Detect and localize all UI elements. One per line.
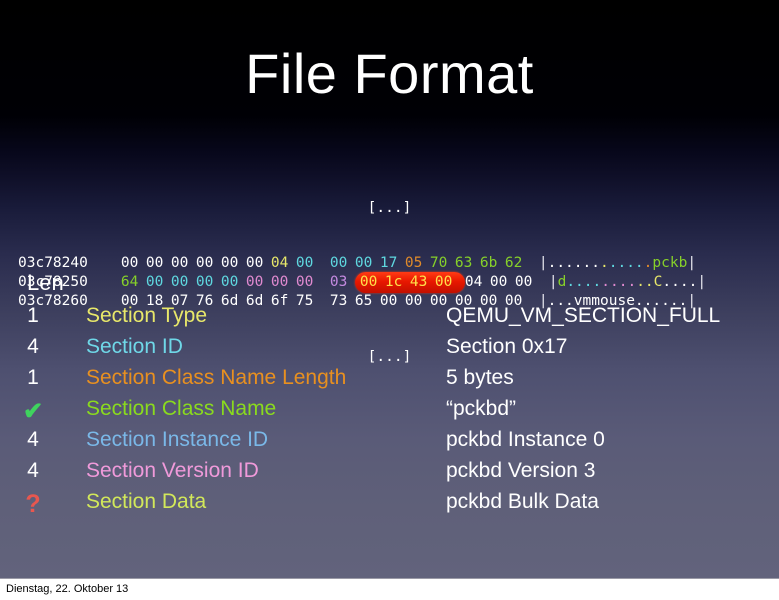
footer-bar: Dienstag, 22. Oktober 13 [0, 578, 779, 600]
field-name: Section Data [86, 490, 206, 514]
field-length: 1 [0, 304, 66, 328]
table-body: 1Section TypeQEMU_VM_SECTION_FULL4Sectio… [0, 304, 779, 521]
field-length: 4 [0, 459, 66, 483]
table-row: 4Section IDSection 0x17 [0, 335, 779, 366]
ascii-char: . [548, 255, 557, 271]
field-name: Section Class Name Length [86, 366, 346, 390]
hex-ellipsis-top: [...] [0, 198, 779, 218]
ascii-char: . [600, 255, 609, 271]
hex-address: 03c78240 [18, 255, 88, 271]
ascii-char: . [583, 255, 592, 271]
field-name: Section Version ID [86, 459, 259, 483]
ascii-delimiter: | [687, 255, 696, 271]
field-table: Len 1Section TypeQEMU_VM_SECTION_FULL4Se… [0, 270, 779, 521]
field-value: Section 0x17 [446, 335, 567, 359]
ascii-char: . [574, 255, 583, 271]
field-value: QEMU_VM_SECTION_FULL [446, 304, 720, 328]
table-row: ✔Section Class Name“pckbd” [0, 397, 779, 428]
field-value: pckbd Instance 0 [446, 428, 605, 452]
table-row: 4Section Version IDpckbd Version 3 [0, 459, 779, 490]
table-row: 4Section Instance IDpckbd Instance 0 [0, 428, 779, 459]
field-name: Section Class Name [86, 397, 276, 421]
checkmark-icon: ✔ [0, 397, 66, 426]
ascii-char: k [670, 255, 679, 271]
table-row: 1Section TypeQEMU_VM_SECTION_FULL [0, 304, 779, 335]
footer-date: Dienstag, 22. Oktober 13 [6, 583, 128, 595]
page-title: File Format [0, 46, 779, 102]
ascii-column: ............pckb [548, 255, 688, 271]
field-name: Section Type [86, 304, 207, 328]
table-row: 1Section Class Name Length5 bytes [0, 366, 779, 397]
table-header-row: Len [0, 270, 779, 304]
slide: File Format [...] 03c7824000000000000004… [0, 0, 779, 578]
field-name: Section ID [86, 335, 183, 359]
ascii-char: c [661, 255, 670, 271]
field-value: 5 bytes [446, 366, 514, 390]
ascii-char: p [652, 255, 661, 271]
field-name: Section Instance ID [86, 428, 268, 452]
question-mark-icon: ? [0, 490, 66, 519]
field-value: “pckbd” [446, 397, 516, 421]
field-length: 4 [0, 428, 66, 452]
ascii-char: . [556, 255, 565, 271]
field-length: 1 [0, 366, 66, 390]
ascii-char: . [617, 255, 626, 271]
ascii-delimiter: | [539, 255, 548, 271]
ascii-char: . [626, 255, 635, 271]
column-header-len: Len [27, 270, 64, 296]
field-value: pckbd Version 3 [446, 459, 595, 483]
ascii-char: . [635, 255, 644, 271]
ascii-char: . [591, 255, 600, 271]
field-length: 4 [0, 335, 66, 359]
field-value: pckbd Bulk Data [446, 490, 599, 514]
ascii-char: . [565, 255, 574, 271]
table-row: ?Section Datapckbd Bulk Data [0, 490, 779, 521]
